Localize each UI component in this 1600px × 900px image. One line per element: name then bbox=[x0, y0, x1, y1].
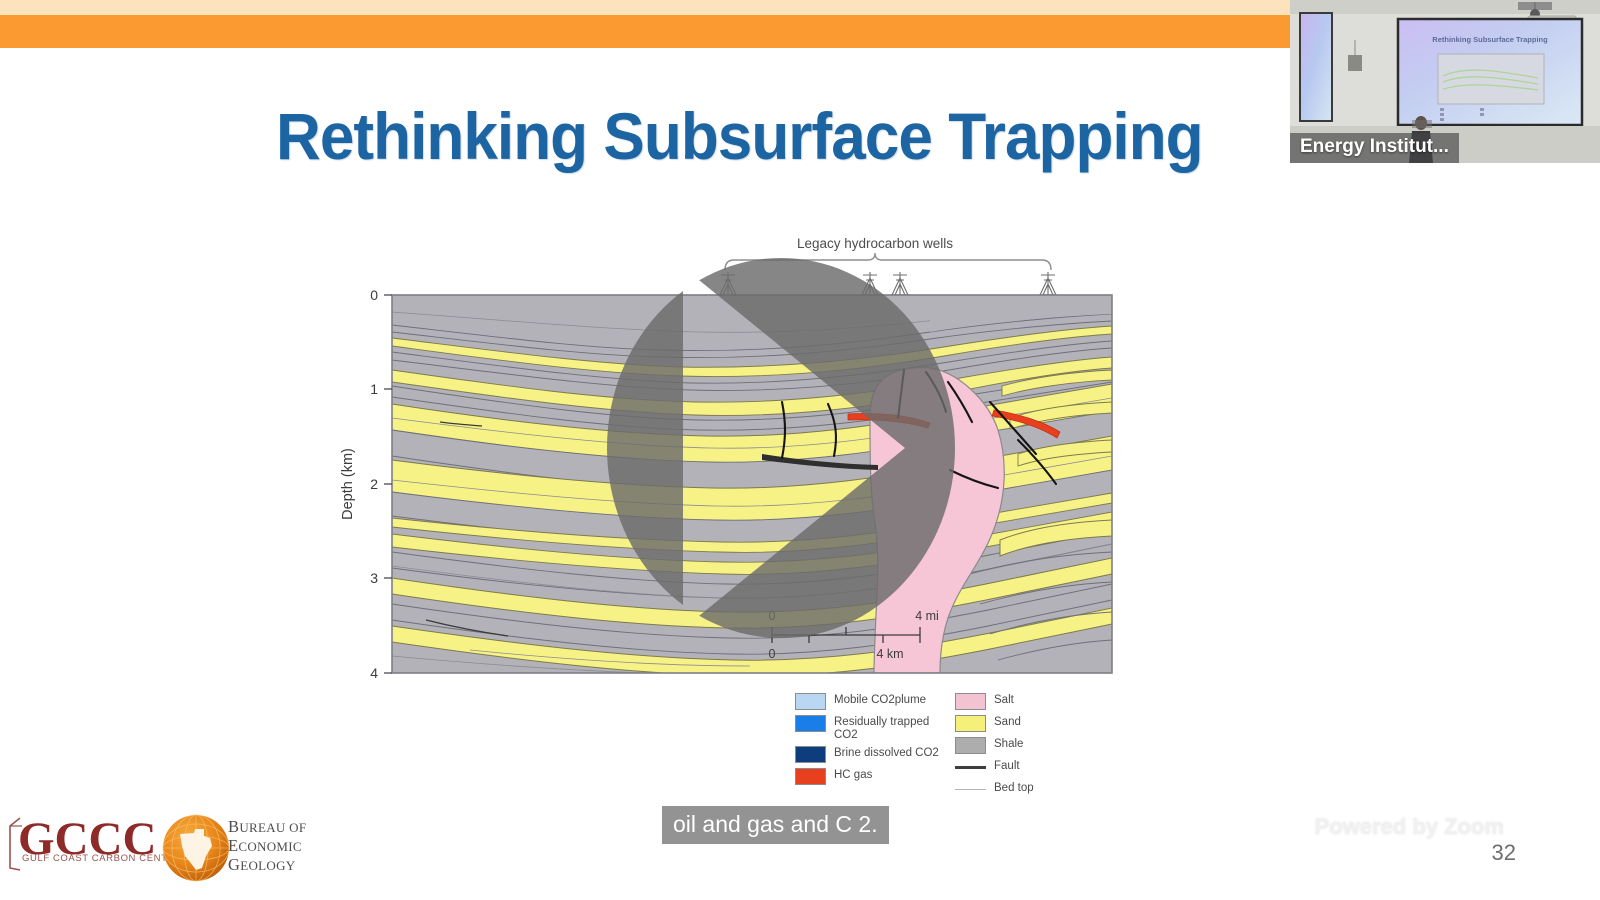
swatch-residual-co2 bbox=[795, 715, 826, 732]
legend-label: Residually trapped CO2 bbox=[834, 715, 954, 741]
swatch-hc-gas bbox=[795, 768, 826, 785]
play-button[interactable] bbox=[605, 257, 957, 639]
closed-caption: oil and gas and C 2. bbox=[662, 806, 889, 844]
legend-item: HC gas bbox=[795, 768, 954, 785]
fault-line-sample bbox=[955, 759, 986, 776]
legend-item: Salt bbox=[955, 693, 1034, 710]
swatch-mobile-co2 bbox=[795, 693, 826, 710]
y-tick-label: 3 bbox=[370, 570, 378, 586]
banner-top-accent bbox=[0, 0, 1300, 15]
swatch-sand bbox=[955, 715, 986, 732]
legend-label: Sand bbox=[994, 715, 1021, 729]
beg-wordmark: BUREAU OF ECONOMIC GEOLOGY bbox=[228, 818, 306, 875]
play-triangle-icon bbox=[607, 258, 955, 638]
legend-label: Mobile CO2plume bbox=[834, 693, 926, 707]
y-axis: 0 1 2 3 4 Depth (km) bbox=[340, 287, 392, 681]
legend-item: Brine dissolved CO2 bbox=[795, 746, 954, 763]
swatch-shale bbox=[955, 737, 986, 754]
scalebar-km-start: 0 bbox=[769, 647, 776, 661]
legend-item: Fault bbox=[955, 759, 1034, 776]
legend-label: Brine dissolved CO2 bbox=[834, 746, 939, 760]
bed-top-line-sample bbox=[955, 781, 986, 798]
gccc-bracket-icon bbox=[6, 814, 26, 872]
banner-orange bbox=[0, 15, 1300, 48]
legend-label: Bed top bbox=[994, 781, 1034, 795]
beg-line-2: ECONOMIC bbox=[228, 837, 306, 856]
slide-stage: Rethinking Subsurface Trapping Legacy hy… bbox=[0, 0, 1600, 900]
legend-item: Residually trapped CO2 bbox=[795, 715, 954, 741]
legend-item: Shale bbox=[955, 737, 1034, 754]
y-tick-label: 4 bbox=[370, 665, 378, 681]
legend-label: Fault bbox=[994, 759, 1020, 773]
wells-annotation-label: Legacy hydrocarbon wells bbox=[797, 236, 953, 251]
scalebar-km-end: 4 km bbox=[876, 647, 903, 661]
legend-item: Sand bbox=[955, 715, 1034, 732]
footer-logos: GCCC GULF COAST CARBON CENTER bbox=[10, 808, 340, 896]
gccc-tagline: GULF COAST CARBON CENTER bbox=[22, 853, 182, 864]
legend-label: Salt bbox=[994, 693, 1014, 707]
y-tick-label: 2 bbox=[370, 476, 378, 492]
legend-item: Bed top bbox=[955, 781, 1034, 798]
zoom-watermark: Powered by Zoom bbox=[1315, 814, 1504, 840]
gccc-logo: GCCC GULF COAST CARBON CENTER bbox=[18, 816, 182, 864]
swatch-salt bbox=[955, 693, 986, 710]
legend-item: Mobile CO2plume bbox=[795, 693, 954, 710]
swatch-brine-co2 bbox=[795, 746, 826, 763]
slide-page-number: 32 bbox=[1492, 840, 1516, 866]
figure-legend: Mobile CO2plume Residually trapped CO2 B… bbox=[795, 693, 1095, 811]
beg-line-3: GEOLOGY bbox=[228, 856, 306, 875]
y-axis-label: Depth (km) bbox=[340, 448, 356, 520]
pip-participant-label: Energy Institut... bbox=[1290, 133, 1459, 163]
y-tick-label: 0 bbox=[370, 287, 378, 303]
beg-globe-icon bbox=[160, 812, 232, 884]
y-tick-label: 1 bbox=[370, 381, 378, 397]
page-title: Rethinking Subsurface Trapping bbox=[276, 99, 1244, 175]
legend-column-left: Mobile CO2plume Residually trapped CO2 B… bbox=[795, 693, 954, 790]
legend-column-right: Salt Sand Shale Fault Bed top bbox=[955, 693, 1034, 803]
pip-screen-title: Rethinking Subsurface Trapping bbox=[1432, 35, 1548, 44]
video-thumbnail[interactable]: Rethinking Subsurface Trapping bbox=[1290, 0, 1600, 163]
beg-line-1: BUREAU OF bbox=[228, 818, 306, 837]
legend-label: HC gas bbox=[834, 768, 872, 782]
legend-label: Shale bbox=[994, 737, 1023, 751]
